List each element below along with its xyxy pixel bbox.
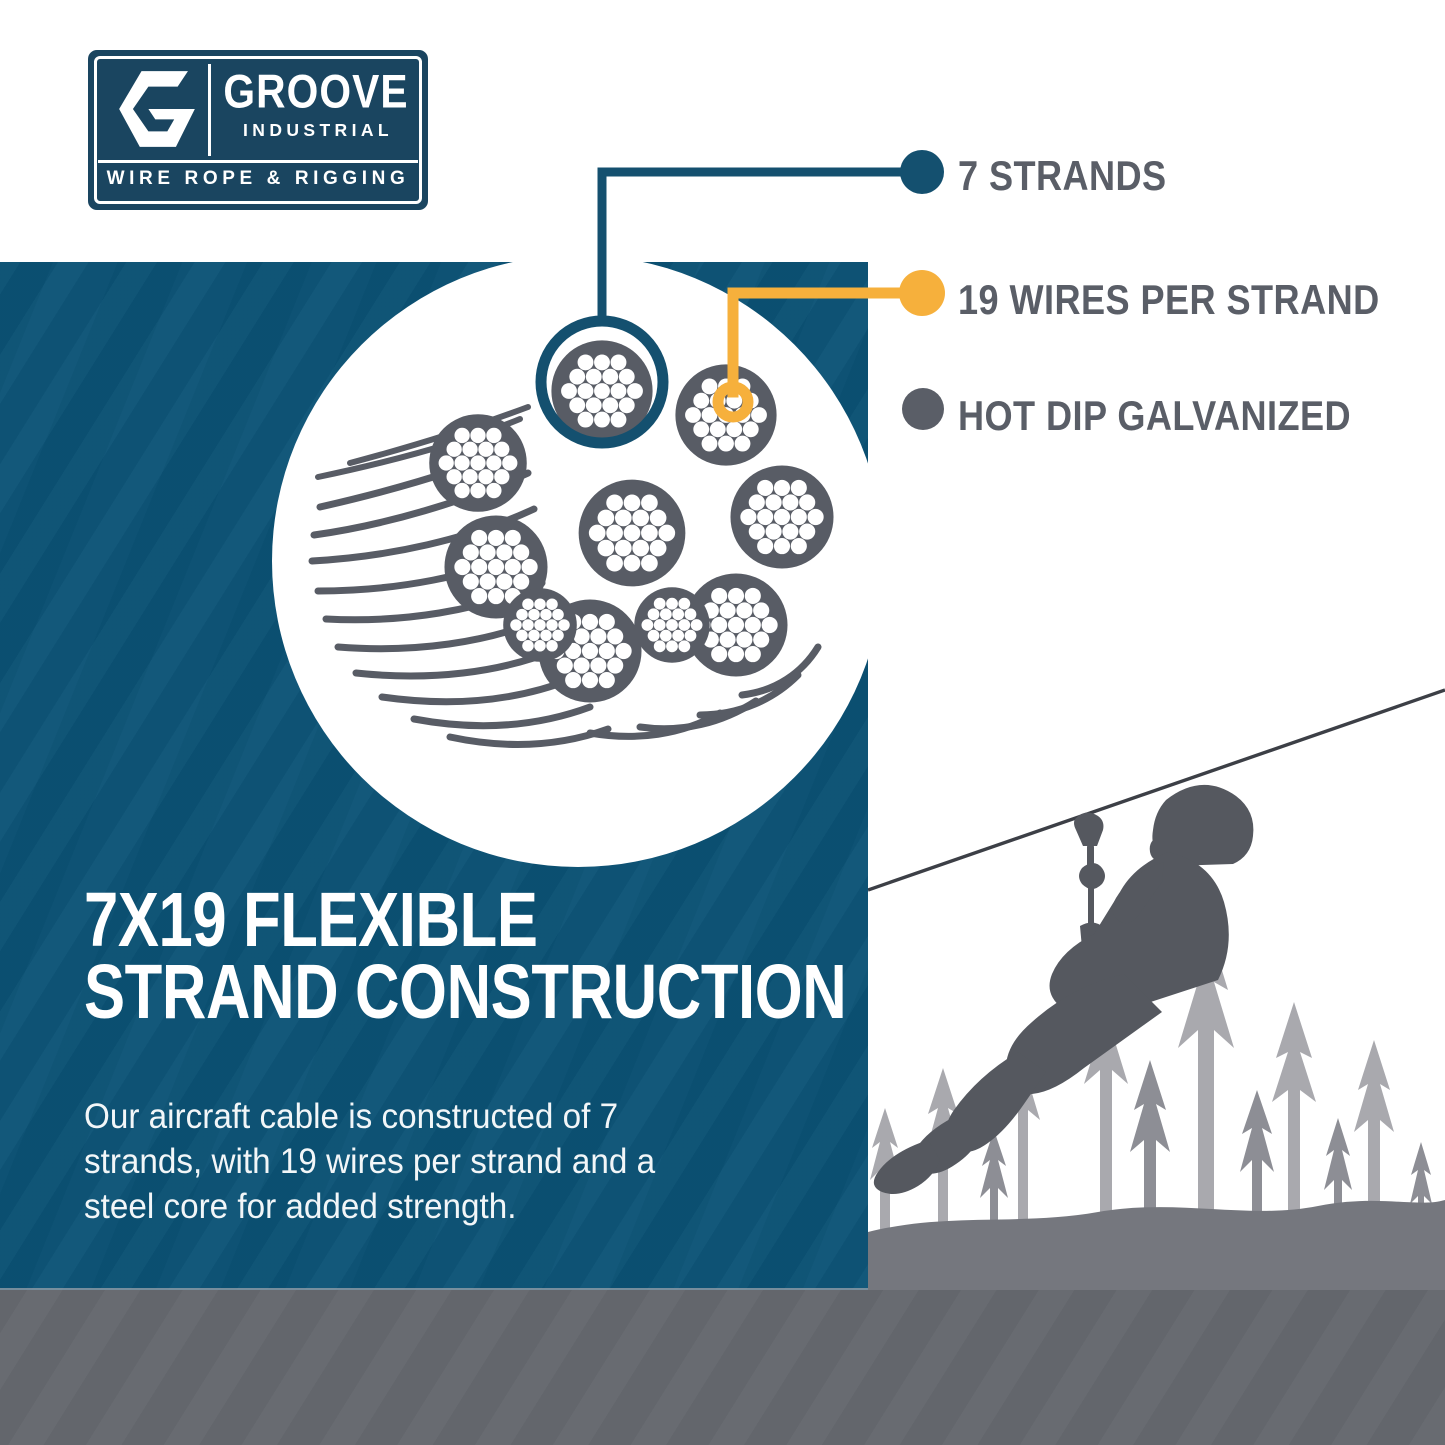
callout-label-galvanized: HOT DIP GALVANIZED [958,392,1351,440]
logo-wordmark: GROOVE [220,62,412,120]
bottom-gray-bar [0,1290,1445,1445]
brand-logo: GROOVE INDUSTRIAL WIRE ROPE & RIGGING [88,50,428,210]
logo-divider [208,64,211,156]
callout-label-strands: 7 STRANDS [958,152,1167,200]
wire-rope-illustration [290,295,850,775]
logo-tagline: WIRE ROPE & RIGGING [88,168,428,190]
bottom-bar-texture [0,1290,1445,1445]
galvanized-bullet-dot [902,388,944,430]
callout-label-wires-per-strand: 19 WIRES PER STRAND [958,276,1380,324]
infographic-canvas: GROOVE INDUSTRIAL WIRE ROPE & RIGGING [0,0,1445,1445]
page-title: 7X19 FLEXIBLE STRAND CONSTRUCTION [84,884,692,1029]
svg-text:GROOVE: GROOVE [223,66,408,119]
zipline-scene [868,640,1445,1290]
logo-horizontal-rule [98,160,418,163]
body-description: Our aircraft cable is constructed of 7 s… [84,1095,711,1229]
forest-floor [868,1200,1445,1290]
headline-line-2: STRAND CONSTRUCTION [84,956,692,1028]
groove-g-icon [114,66,200,152]
logo-subtitle: INDUSTRIAL [220,122,416,140]
